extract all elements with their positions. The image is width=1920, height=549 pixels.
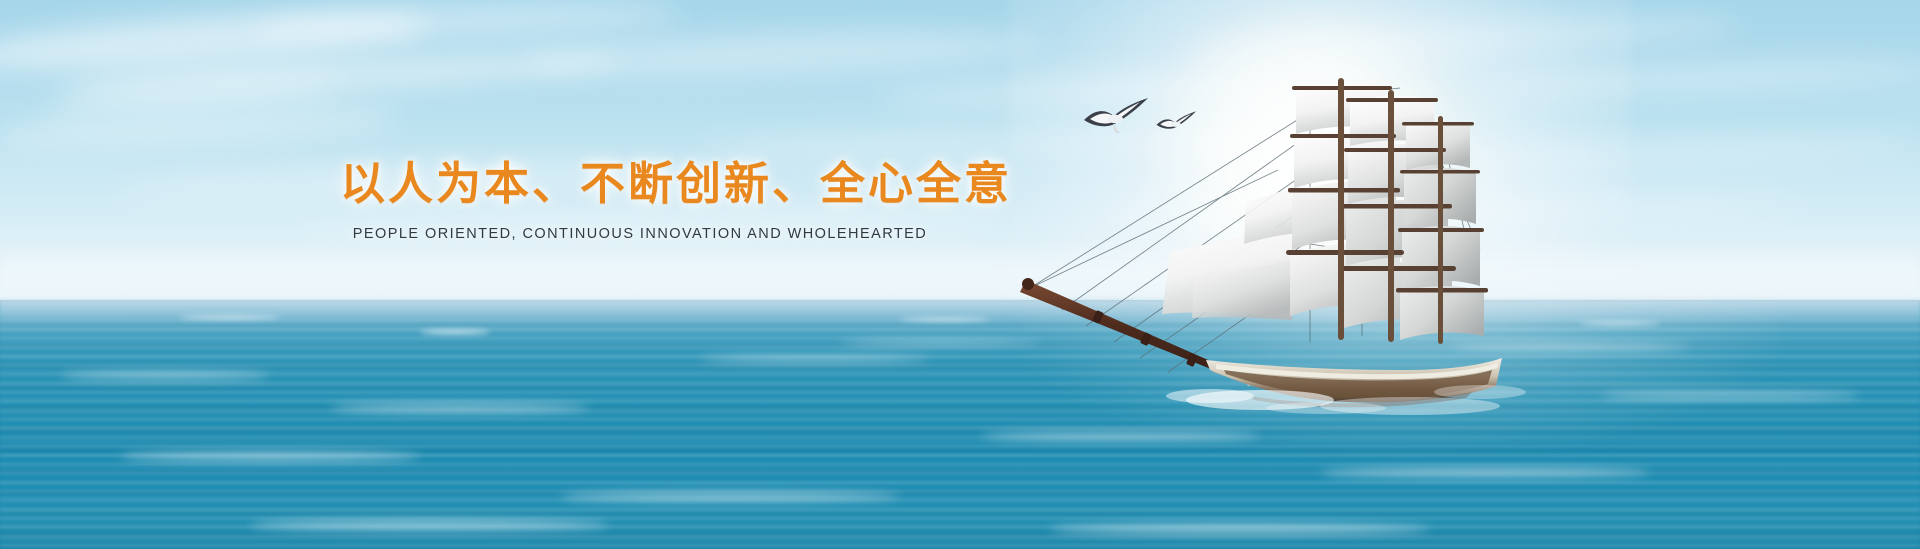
- water-sparkle: [180, 316, 280, 319]
- wave-crest: [1320, 468, 1650, 477]
- banner-headline: 以人为本、不断创新、全心全意: [340, 158, 940, 210]
- seagull-small: [1156, 111, 1196, 129]
- water-sparkle: [900, 318, 990, 321]
- wave-crest: [250, 520, 610, 530]
- banner-text-block: 以人为本、不断创新、全心全意 PEOPLE ORIENTED, CONTINUO…: [340, 158, 940, 242]
- wave-crest: [560, 492, 900, 501]
- seagull-large: [1084, 98, 1148, 133]
- wave-crest: [60, 372, 270, 379]
- wave-crest: [1600, 392, 1860, 399]
- hero-banner: 以人为本、不断创新、全心全意 PEOPLE ORIENTED, CONTINUO…: [0, 0, 1920, 549]
- wave-crest: [120, 452, 420, 461]
- banner-subline: PEOPLE ORIENTED, CONTINUOUS INNOVATION A…: [340, 226, 940, 242]
- wave-crest: [700, 356, 930, 362]
- wave-crest: [980, 432, 1260, 440]
- wave-crest: [330, 404, 590, 412]
- seagulls: [1080, 96, 1220, 156]
- water-sparkle: [1580, 322, 1660, 325]
- water-sparkle: [420, 330, 490, 334]
- wave-crest: [1050, 524, 1430, 534]
